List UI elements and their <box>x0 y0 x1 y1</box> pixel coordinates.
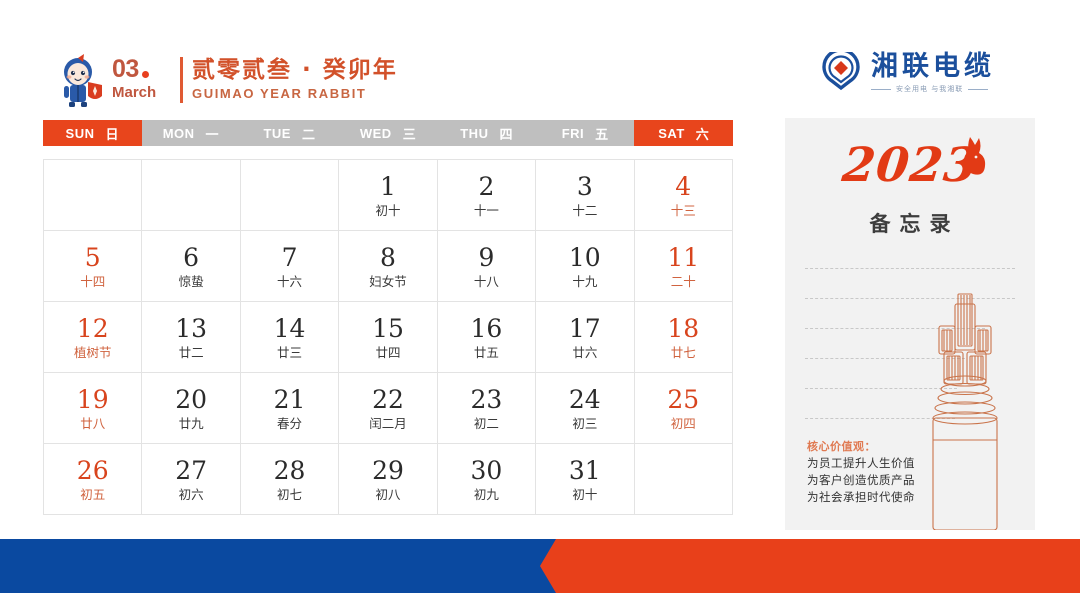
day-number: 17 <box>569 314 601 343</box>
calendar-week-row: 12植树节13廿二14廿三15廿四16廿五17廿六18廿七 <box>44 302 733 373</box>
day-lunar-label: 初六 <box>179 486 204 503</box>
weekday-label-en: TUE <box>263 126 291 141</box>
day-cell[interactable]: 30初九 <box>438 444 536 515</box>
day-cell[interactable]: 8妇女节 <box>339 231 437 302</box>
calendar-week-row: 5十四6惊蛰7十六8妇女节9十八10十九11二十 <box>44 231 733 302</box>
weekday-header-tue: TUE二 <box>240 120 339 146</box>
day-lunar-label: 闰二月 <box>369 415 407 432</box>
weekday-label-cn: 三 <box>403 124 417 143</box>
day-number: 2 <box>478 172 494 201</box>
year-title-en: GUIMAO YEAR RABBIT <box>192 85 398 102</box>
day-number: 21 <box>274 385 306 414</box>
day-lunar-label: 初二 <box>474 415 499 432</box>
rabbit-calligraphy-icon <box>957 134 987 182</box>
day-lunar-label: 廿七 <box>671 344 696 361</box>
brand-name: 湘联电缆 <box>871 52 995 82</box>
day-lunar-label: 十二 <box>572 202 597 219</box>
weekday-label-cn: 一 <box>206 124 220 143</box>
day-cell[interactable]: 14廿三 <box>241 302 339 373</box>
year-title-cn: 贰零贰叁 · 癸卯年 <box>192 56 398 84</box>
day-lunar-label: 十九 <box>572 273 597 290</box>
day-cell[interactable]: 29初八 <box>339 444 437 515</box>
day-lunar-label: 植树节 <box>74 344 112 361</box>
weekday-header-sun: SUN日 <box>43 120 142 146</box>
day-lunar-label: 二十 <box>671 273 696 290</box>
day-lunar-label: 妇女节 <box>369 273 407 290</box>
day-cell[interactable]: 16廿五 <box>438 302 536 373</box>
day-lunar-label: 春分 <box>277 415 302 432</box>
weekday-label-en: THU <box>460 126 488 141</box>
day-lunar-label: 十四 <box>80 273 105 290</box>
weekday-label-en: SUN <box>66 126 95 141</box>
day-cell[interactable]: 7十六 <box>241 231 339 302</box>
month-indicator: 03 March <box>112 56 178 106</box>
day-lunar-label: 廿九 <box>179 415 204 432</box>
mascot-character-icon <box>52 52 108 108</box>
memo-panel: 2023 备忘录 核心价值观： 为员工提升人生价值 为客户创造优质产品 为社会承… <box>785 118 1035 530</box>
weekday-label-en: SAT <box>658 126 685 141</box>
weekday-label-cn: 五 <box>595 124 609 143</box>
weekday-label-cn: 日 <box>106 124 120 143</box>
cable-illustration-icon <box>911 290 1019 530</box>
day-number: 8 <box>380 243 396 272</box>
day-cell[interactable]: 10十九 <box>536 231 634 302</box>
slogan-rule-left <box>871 89 891 90</box>
day-cell[interactable]: 5十四 <box>44 231 142 302</box>
day-lunar-label: 初五 <box>80 486 105 503</box>
day-lunar-label: 廿四 <box>375 344 400 361</box>
calendar-week-row: 1初十2十一3十二4十三 <box>44 160 733 231</box>
weekday-header-wed: WED三 <box>339 120 438 146</box>
day-cell[interactable]: 21春分 <box>241 373 339 444</box>
day-lunar-label: 十六 <box>277 273 302 290</box>
weekday-header-row: SUN日MON一TUE二WED三THU四FRI五SAT六 <box>43 120 733 146</box>
month-number: 03 <box>112 56 139 82</box>
day-number: 15 <box>372 314 404 343</box>
year-title-block: 贰零贰叁 · 癸卯年 GUIMAO YEAR RABBIT <box>192 56 398 102</box>
day-number: 12 <box>77 314 109 343</box>
day-number: 27 <box>175 456 207 485</box>
day-lunar-label: 初七 <box>277 486 302 503</box>
day-number: 13 <box>175 314 207 343</box>
day-number: 4 <box>675 172 691 201</box>
day-number: 26 <box>77 456 109 485</box>
day-lunar-label: 廿三 <box>277 344 302 361</box>
day-number: 18 <box>667 314 699 343</box>
memo-write-line[interactable] <box>805 268 1015 269</box>
day-cell[interactable]: 1初十 <box>339 160 437 231</box>
day-lunar-label: 初九 <box>474 486 499 503</box>
weekday-label-en: FRI <box>562 126 584 141</box>
day-number: 16 <box>470 314 502 343</box>
day-cell[interactable]: 25初四 <box>635 373 733 444</box>
day-number: 6 <box>183 243 199 272</box>
weekday-label-cn: 六 <box>696 124 710 143</box>
day-number: 24 <box>569 385 601 414</box>
day-number: 7 <box>282 243 298 272</box>
bottom-banner <box>0 539 1080 593</box>
calendar-week-row: 19廿八20廿九21春分22闰二月23初二24初三25初四 <box>44 373 733 444</box>
day-cell[interactable]: 2十一 <box>438 160 536 231</box>
day-number: 10 <box>569 243 601 272</box>
memo-year-title: 2023 <box>782 138 1038 193</box>
day-lunar-label: 廿二 <box>179 344 204 361</box>
day-number: 29 <box>372 456 404 485</box>
day-cell[interactable]: 26初五 <box>44 444 142 515</box>
day-cell[interactable]: 22闰二月 <box>339 373 437 444</box>
day-number: 1 <box>380 172 396 201</box>
day-number: 23 <box>470 385 502 414</box>
day-number: 22 <box>372 385 404 414</box>
day-lunar-label: 初十 <box>375 202 400 219</box>
month-dot-icon <box>142 71 149 78</box>
day-cell[interactable]: 19廿八 <box>44 373 142 444</box>
day-number: 31 <box>569 456 601 485</box>
day-cell-empty <box>241 160 339 231</box>
day-cell[interactable]: 13廿二 <box>142 302 240 373</box>
day-cell[interactable]: 4十三 <box>635 160 733 231</box>
day-lunar-label: 惊蛰 <box>179 273 204 290</box>
day-number: 30 <box>470 456 502 485</box>
memo-title: 备忘录 <box>785 208 1035 238</box>
calendar-week-row: 26初五27初六28初七29初八30初九31初十 <box>44 444 733 515</box>
day-cell[interactable]: 11二十 <box>635 231 733 302</box>
weekday-label-en: MON <box>163 126 195 141</box>
day-cell[interactable]: 31初十 <box>536 444 634 515</box>
day-cell[interactable]: 15廿四 <box>339 302 437 373</box>
weekday-header-sat: SAT六 <box>634 120 733 146</box>
day-cell[interactable]: 9十八 <box>438 231 536 302</box>
weekday-header-thu: THU四 <box>437 120 536 146</box>
day-number: 3 <box>577 172 593 201</box>
day-number: 25 <box>667 385 699 414</box>
weekday-label-en: WED <box>360 126 392 141</box>
day-number: 28 <box>274 456 306 485</box>
day-lunar-label: 十一 <box>474 202 499 219</box>
weekday-header-mon: MON一 <box>142 120 241 146</box>
day-cell[interactable]: 3十二 <box>536 160 634 231</box>
day-cell-empty <box>142 160 240 231</box>
day-cell[interactable]: 20廿九 <box>142 373 240 444</box>
day-cell-empty <box>44 160 142 231</box>
day-number: 9 <box>478 243 494 272</box>
day-lunar-label: 廿五 <box>474 344 499 361</box>
day-lunar-label: 初三 <box>572 415 597 432</box>
brand-logo: 湘联电缆 安全用电 与我湘联 <box>820 52 995 94</box>
day-cell[interactable]: 28初七 <box>241 444 339 515</box>
day-lunar-label: 初八 <box>375 486 400 503</box>
day-lunar-label: 初四 <box>671 415 696 432</box>
day-number: 14 <box>274 314 306 343</box>
day-cell[interactable]: 6惊蛰 <box>142 231 240 302</box>
day-lunar-label: 十三 <box>671 202 696 219</box>
company-logo-mark-icon <box>820 52 862 94</box>
day-lunar-label: 十八 <box>474 273 499 290</box>
day-cell[interactable]: 24初三 <box>536 373 634 444</box>
weekday-header-fri: FRI五 <box>536 120 635 146</box>
day-number: 19 <box>77 385 109 414</box>
slogan-rule-right <box>968 89 988 90</box>
page-header: 03 March 贰零贰叁 · 癸卯年 GUIMAO YEAR RABBIT 湘… <box>0 0 1080 112</box>
brand-slogan: 安全用电 与我湘联 <box>896 84 963 94</box>
day-cell[interactable]: 23初二 <box>438 373 536 444</box>
day-number: 11 <box>667 243 699 272</box>
month-name: March <box>112 83 178 102</box>
calendar: SUN日MON一TUE二WED三THU四FRI五SAT六 1初十2十一3十二4十… <box>43 120 733 515</box>
day-cell-empty <box>635 444 733 515</box>
weekday-label-cn: 四 <box>499 124 513 143</box>
day-cell[interactable]: 12植树节 <box>44 302 142 373</box>
weekday-label-cn: 二 <box>302 124 316 143</box>
day-lunar-label: 廿八 <box>80 415 105 432</box>
day-lunar-label: 廿六 <box>572 344 597 361</box>
day-number: 5 <box>85 243 101 272</box>
day-cell[interactable]: 17廿六 <box>536 302 634 373</box>
day-cell[interactable]: 27初六 <box>142 444 240 515</box>
day-number: 20 <box>175 385 207 414</box>
day-lunar-label: 初十 <box>572 486 597 503</box>
title-divider <box>180 57 183 103</box>
day-cell[interactable]: 18廿七 <box>635 302 733 373</box>
calendar-grid: 1初十2十一3十二4十三5十四6惊蛰7十六8妇女节9十八10十九11二十12植树… <box>43 159 733 515</box>
